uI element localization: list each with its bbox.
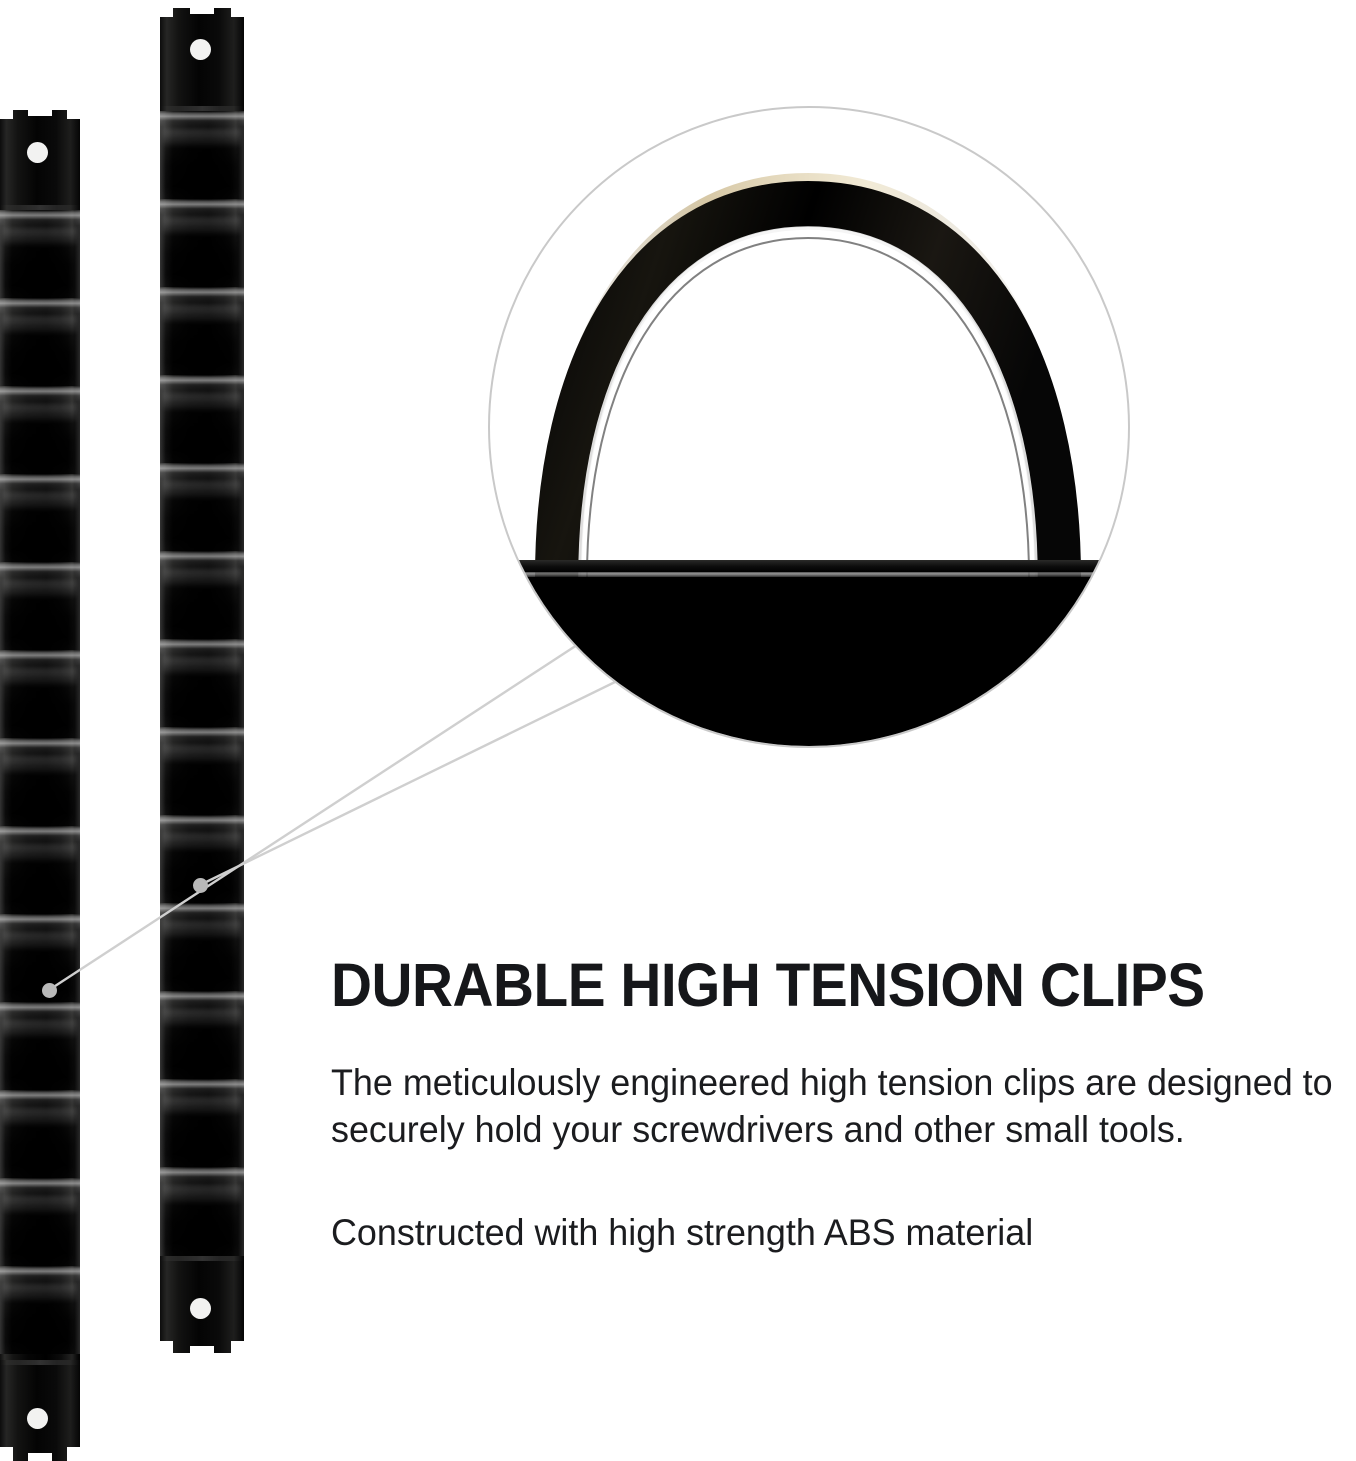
clip-segment <box>0 738 80 826</box>
body-paragraph: The meticulously engineered high tension… <box>331 1060 1354 1154</box>
clip-segment <box>0 826 80 914</box>
cap-groove <box>160 1256 244 1261</box>
clip-segment <box>160 287 244 375</box>
clip-segment <box>0 1002 80 1090</box>
rail-bottom-cap <box>0 1360 80 1461</box>
cap-notch <box>231 1341 244 1353</box>
clip-segment <box>0 1178 80 1266</box>
clip-segment <box>160 1167 244 1256</box>
cap-notch <box>190 1346 214 1353</box>
clip-segment <box>0 386 80 474</box>
cap-groove <box>0 1360 80 1365</box>
cap-notch <box>67 1447 80 1461</box>
product-feature-image: DURABLE HIGH TENSION CLIPS The meticulou… <box>0 0 1356 1461</box>
product-rail-left <box>0 110 80 1461</box>
clip-segment <box>160 375 244 463</box>
clip-segment <box>0 210 80 298</box>
clip-segment <box>160 727 244 815</box>
clip-segment <box>160 639 244 727</box>
cap-notch <box>160 8 173 17</box>
cap-notch <box>28 1453 52 1461</box>
cap-notch <box>160 1341 173 1353</box>
cap-notch <box>190 8 214 14</box>
rail-bottom-cap <box>160 1256 244 1353</box>
rail-top-cap <box>0 110 80 210</box>
rail-top-cap <box>160 8 244 111</box>
clip-segment <box>0 562 80 650</box>
magnified-clip-detail <box>488 106 1130 748</box>
clip-segment <box>160 991 244 1079</box>
clip-segment <box>160 199 244 287</box>
headline: DURABLE HIGH TENSION CLIPS <box>331 955 1270 1016</box>
clip-segment <box>0 474 80 562</box>
rail-clip-stack <box>0 210 80 1360</box>
cap-notch <box>0 1447 13 1461</box>
clip-segment <box>0 1266 80 1354</box>
rail-clip-stack <box>160 111 244 1256</box>
marketing-copy: DURABLE HIGH TENSION CLIPS The meticulou… <box>331 955 1341 1257</box>
clip-segment <box>160 903 244 991</box>
mounting-hole <box>27 142 48 163</box>
subtext-paragraph: Constructed with high strength ABS mater… <box>331 1210 1311 1257</box>
mounting-hole <box>27 1408 48 1429</box>
callout-anchor-dot-upper <box>193 878 208 893</box>
cap-notch <box>67 110 80 119</box>
rail-lip <box>488 560 1130 572</box>
clip-segment <box>160 1079 244 1167</box>
clip-segment <box>0 650 80 738</box>
clip-segment <box>0 298 80 386</box>
callout-anchor-dot-lower <box>42 983 57 998</box>
rail-face <box>488 577 1130 746</box>
clip-segment <box>160 463 244 551</box>
clip-segment <box>0 914 80 1002</box>
clip-segment <box>160 111 244 199</box>
mounting-hole <box>190 1298 211 1319</box>
cap-notch <box>28 110 52 116</box>
clip-segment <box>160 551 244 639</box>
cap-notch <box>231 8 244 17</box>
cap-notch <box>0 110 13 119</box>
product-rail-right <box>160 8 244 1353</box>
mounting-hole <box>190 39 211 60</box>
clip-segment <box>0 1090 80 1178</box>
